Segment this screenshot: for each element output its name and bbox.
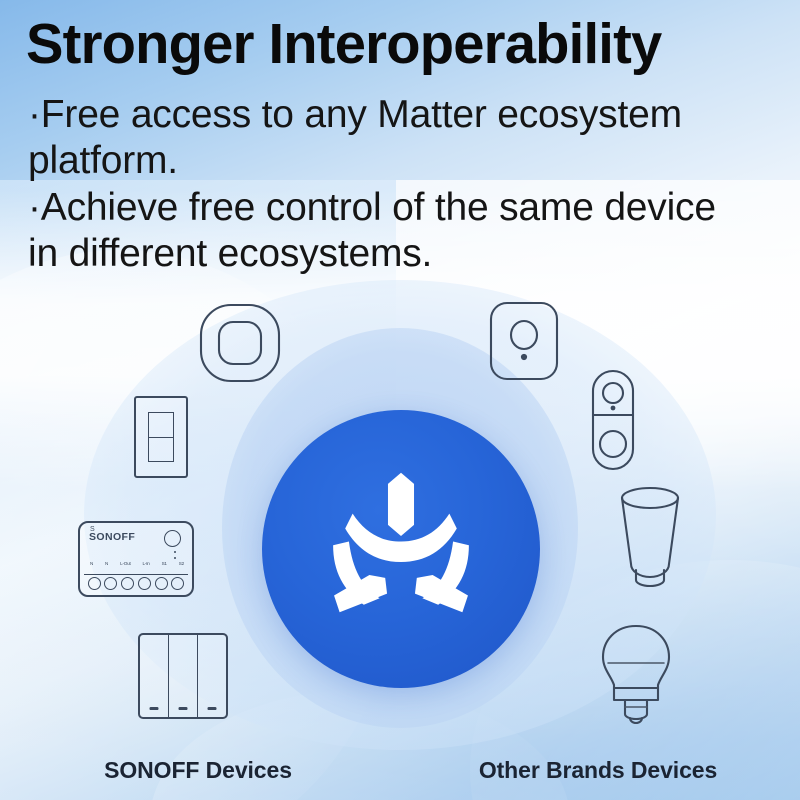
terminal-label: L-In — [143, 561, 150, 566]
rounded-square-sensor-icon — [198, 302, 282, 384]
motion-sensor-icon — [488, 300, 560, 382]
wall-switch-rocker — [148, 412, 174, 462]
sonoff-brand-text: SONOFF — [89, 531, 135, 543]
caption-other-brands-devices: Other Brands Devices — [396, 757, 800, 784]
promo-graphic: Stronger Interoperability ·Free access t… — [0, 0, 800, 800]
sonoff-pair-button — [164, 530, 181, 547]
sonoff-brand-tick: S — [90, 526, 95, 533]
wall-switch-gang-1 — [140, 635, 169, 717]
bullet-line-2: platform. — [28, 138, 784, 184]
sonoff-terminal-labels: N N L-Out L-In S1 S2 — [90, 561, 184, 566]
terminal-label: N — [90, 561, 93, 566]
wall-switch-single-icon — [134, 396, 188, 478]
page-title: Stronger Interoperability — [26, 16, 775, 73]
video-doorbell-icon — [590, 368, 636, 472]
matter-logo — [262, 410, 540, 688]
bullet-line-1: ·Free access to any Matter ecosystem — [28, 92, 784, 138]
led-bulb-icon — [598, 622, 674, 732]
sonoff-terminal-row — [84, 574, 188, 591]
terminal-label: N — [105, 561, 108, 566]
spotlight-bulb-icon — [616, 486, 684, 586]
wall-switch-gang-2 — [169, 635, 198, 717]
feature-bullets: ·Free access to any Matter ecosystem pla… — [28, 92, 784, 278]
terminal-label: S2 — [179, 561, 184, 566]
wall-switch-gang-3 — [198, 635, 226, 717]
sonoff-brand-label: S SONOFF — [89, 531, 135, 543]
sonoff-mini-module-icon: S SONOFF N N L-Out L-In S1 S2 — [78, 521, 194, 597]
terminal-label: L-Out — [120, 561, 131, 566]
caption-sonoff-devices: SONOFF Devices — [0, 757, 396, 784]
wall-switch-triple-icon — [138, 633, 228, 719]
bullet-line-4: in different ecosystems. — [28, 231, 784, 277]
bullet-line-3: ·Achieve free control of the same device — [28, 185, 784, 231]
terminal-label: S1 — [162, 561, 167, 566]
